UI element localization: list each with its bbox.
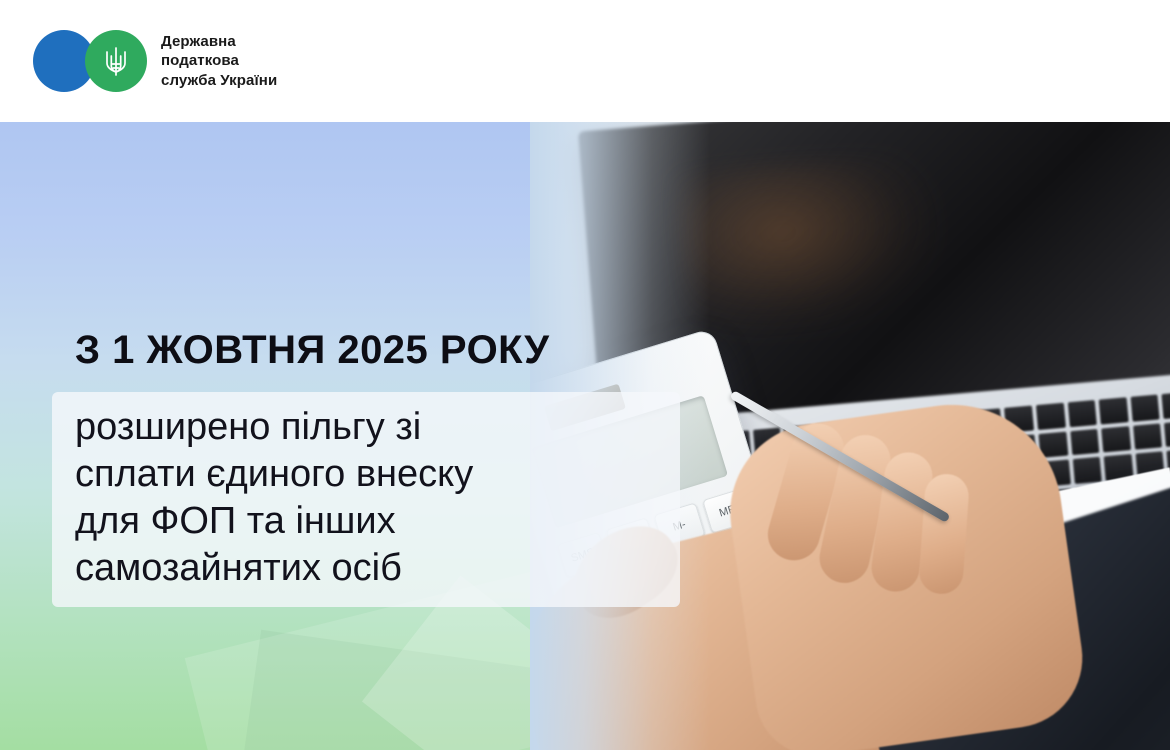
- keyboard-key: [1099, 397, 1129, 424]
- keyboard-key: [1072, 457, 1102, 484]
- keyboard-key: [1070, 428, 1100, 455]
- keyboard-key: [1067, 400, 1097, 427]
- header-bar: Державна податкова служба України: [0, 0, 1170, 122]
- keyboard-key: [1133, 423, 1163, 450]
- keyboard-key: [1162, 392, 1170, 419]
- keyboard-key: [1130, 394, 1160, 421]
- organization-logo[interactable]: Державна податкова служба України: [33, 30, 277, 92]
- body-line: для ФОП та інших: [75, 498, 675, 545]
- logo-text-line: Державна: [161, 32, 277, 52]
- keyboard-key: [1036, 403, 1066, 430]
- body-line: розширено пільгу зі: [75, 404, 675, 451]
- organization-name: Державна податкова служба України: [161, 32, 277, 91]
- body-text: розширено пільгу зі сплати єдиного внеск…: [75, 404, 675, 592]
- keyboard-key: [1164, 420, 1170, 447]
- little-finger: [918, 473, 970, 596]
- logo-text-line: податкова: [161, 51, 277, 71]
- keyboard-key: [1101, 426, 1131, 453]
- body-line: самозайнятих осіб: [75, 545, 675, 592]
- logo-green-circle: [85, 30, 147, 92]
- logo-text-line: служба України: [161, 71, 277, 91]
- laptop-screen-glare: [673, 151, 947, 343]
- body-line: сплати єдиного внеску: [75, 451, 675, 498]
- ukraine-trident-icon: [103, 44, 129, 78]
- page-title: З 1 ЖОВТНЯ 2025 РОКУ: [75, 328, 549, 373]
- announcement-banner: /*keys injected*/ SMS↑M-MR%MRCM+TAX++/-7…: [0, 0, 1170, 750]
